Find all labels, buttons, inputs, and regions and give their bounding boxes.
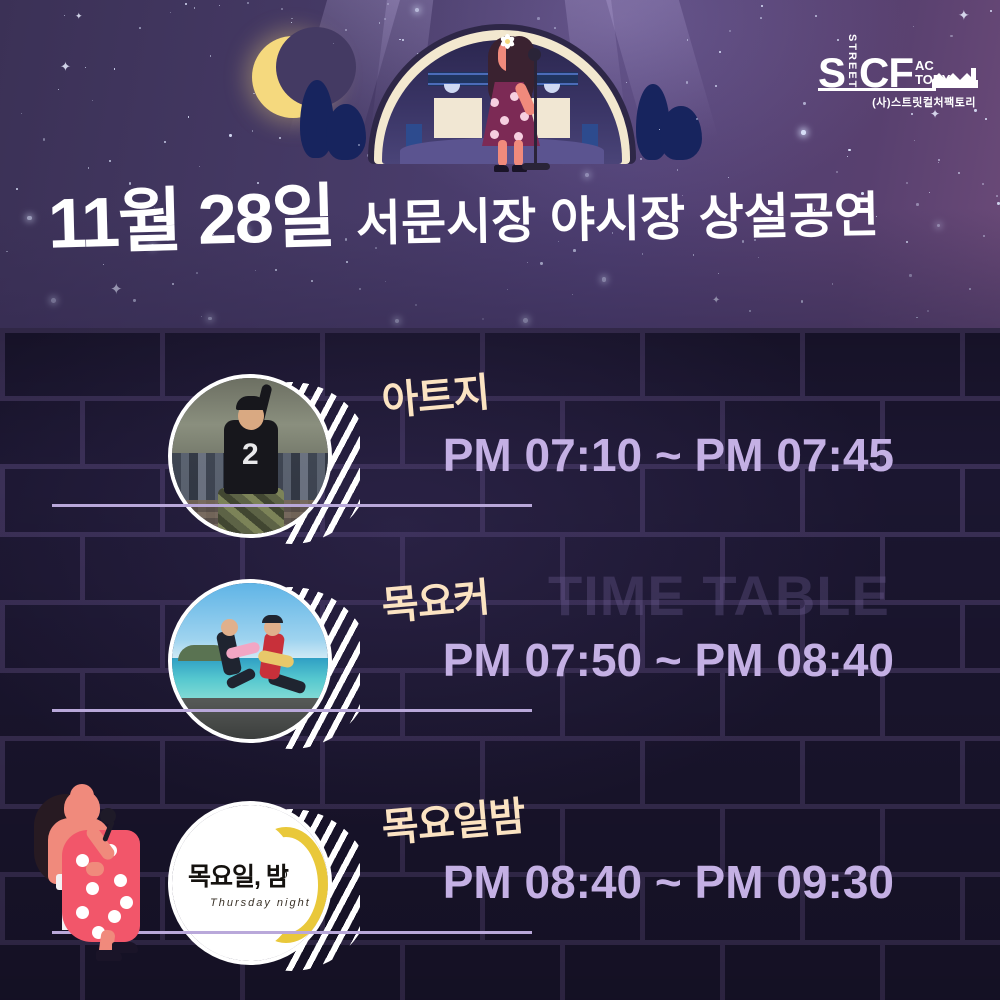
artist-thumbnail-3[interactable]: 목요일, 밤 ♪ Thursday night bbox=[168, 801, 360, 979]
factory-icon bbox=[932, 73, 978, 88]
flower-icon bbox=[500, 34, 515, 49]
logo-underline bbox=[818, 88, 936, 91]
stage-screen bbox=[434, 98, 482, 138]
microphone-icon bbox=[100, 808, 116, 824]
microphone-stand-icon bbox=[534, 54, 537, 168]
street-culture-factory-logo: S STREET CF AC TORY (사)스트릿컬처팩토리 bbox=[818, 34, 978, 108]
thursday-night-korean: 목요일, 밤 bbox=[188, 865, 288, 890]
headline: 11월 28일 서문시장 야시장 상설공연 bbox=[0, 160, 1000, 280]
logo-letters-cf: CF bbox=[859, 55, 913, 92]
logo-korean-name: (사)스트릿컬처팩토리 bbox=[872, 94, 976, 110]
artist-time: PM 07:50 ~ PM 08:40 bbox=[382, 635, 942, 686]
jersey-number: 2 bbox=[242, 440, 259, 470]
event-date-title: 11월 28일 bbox=[47, 181, 335, 258]
singer-illustration bbox=[476, 32, 550, 172]
artist-thumbnail-2[interactable] bbox=[168, 579, 360, 757]
logo-text-street: STREET bbox=[846, 34, 857, 92]
stage-lamp-icon bbox=[444, 84, 460, 93]
artist-thumbnail-1[interactable]: 2 bbox=[168, 374, 360, 552]
timetable-row: 목요커 PM 07:50 ~ PM 08:40 bbox=[0, 573, 1000, 773]
artist-time: PM 07:10 ~ PM 07:45 bbox=[382, 430, 942, 481]
artist-time: PM 08:40 ~ PM 09:30 bbox=[382, 857, 942, 908]
timetable-row: 2 아트지 PM 07:10 ~ PM 07:45 bbox=[0, 368, 1000, 568]
event-subtitle-title: 서문시장 야시장 상설공연 bbox=[356, 191, 880, 249]
row-divider bbox=[52, 504, 532, 507]
microphone-icon bbox=[528, 48, 541, 61]
event-poster: ✦✦✦✦✦✦ bbox=[0, 0, 1000, 1000]
logo-letter-s: S bbox=[818, 55, 844, 92]
seated-singer-illustration bbox=[8, 790, 168, 1000]
music-note-icon: ♪ bbox=[277, 861, 290, 886]
thursday-night-english: Thursday night bbox=[210, 897, 311, 909]
stage-illustration bbox=[368, 24, 636, 174]
row-divider bbox=[52, 709, 532, 712]
logo-text-ac: AC bbox=[915, 58, 934, 73]
